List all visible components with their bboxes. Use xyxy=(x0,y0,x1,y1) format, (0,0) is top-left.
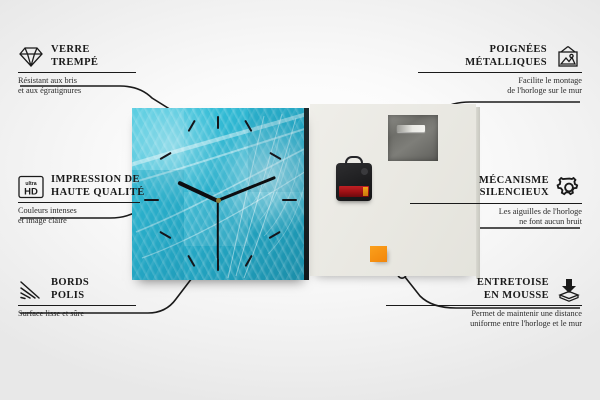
feature-title-line2: SILENCIEUX xyxy=(479,187,549,200)
foam-spacer-icon xyxy=(556,278,582,302)
callout-rule xyxy=(18,305,136,306)
callout-impression: ultra HD IMPRESSION DE HAUTE QUALITÉ Cou… xyxy=(18,174,218,226)
tick-12 xyxy=(217,116,219,129)
infographic-canvas: VERRE TREMPÉ Résistant aux bris et aux é… xyxy=(0,0,600,400)
svg-text:HD: HD xyxy=(24,186,38,197)
feature-title-line2: MÉTALLIQUES xyxy=(465,57,547,70)
callout-verre-trempe: VERRE TREMPÉ Résistant aux bris et aux é… xyxy=(18,44,208,96)
feature-desc-line1: Les aiguilles de l'horloge xyxy=(352,207,582,217)
feature-title-line1: BORDS xyxy=(51,277,89,290)
ultra-hd-icon: ultra HD xyxy=(18,175,44,199)
callout-rule xyxy=(410,203,582,204)
feature-desc-line1: Facilite le montage xyxy=(362,76,582,86)
feature-title-line1: VERRE xyxy=(51,44,98,57)
metal-hanger-plate xyxy=(388,115,438,161)
callout-entretoise: ENTRETOISE EN MOUSSE Permet de maintenir… xyxy=(332,277,582,329)
callout-mecanisme: MÉCANISME SILENCIEUX Les aiguilles de l'… xyxy=(352,174,582,227)
callout-rule xyxy=(386,305,582,306)
foam-spacer xyxy=(370,246,387,262)
feature-title-line1: ENTRETOISE xyxy=(477,277,549,290)
callout-rule xyxy=(18,202,140,203)
callout-poignees: POIGNÉES MÉTALLIQUES Facilite le montage… xyxy=(362,44,582,96)
feature-title-line2: POLIS xyxy=(51,290,89,303)
wall-frame-icon xyxy=(554,45,582,69)
feature-desc-line1: Permet de maintenir une distance xyxy=(332,309,582,319)
feature-desc-line1: Résistant aux bris xyxy=(18,76,208,86)
feature-desc-line2: et aux égratignures xyxy=(18,86,208,96)
feature-title-line1: MÉCANISME xyxy=(479,175,549,188)
tick-6 xyxy=(217,258,219,271)
feature-title-line1: POIGNÉES xyxy=(465,44,547,57)
feature-title-line2: TREMPÉ xyxy=(51,57,98,70)
tick-3 xyxy=(282,199,297,201)
callout-rule xyxy=(18,72,136,73)
feature-desc-line2: de l'horloge sur le mur xyxy=(362,86,582,96)
feature-desc-line1: Surface lisse et sûre xyxy=(18,309,208,319)
gear-icon xyxy=(556,174,582,200)
feature-desc-line1: Couleurs intenses xyxy=(18,206,218,216)
feature-desc-line2: et image claire xyxy=(18,216,218,226)
diamond-icon xyxy=(18,46,44,68)
feature-desc-line2: uniforme entre l'horloge et le mur xyxy=(332,319,582,329)
feature-title-line2: HAUTE QUALITÉ xyxy=(51,187,145,200)
feature-title-line2: EN MOUSSE xyxy=(477,290,549,303)
hands-center-cap xyxy=(216,198,221,203)
hanger-slot xyxy=(397,125,425,132)
callout-bords-polis: BORDS POLIS Surface lisse et sûre xyxy=(18,277,208,319)
feature-title-line1: IMPRESSION DE xyxy=(51,174,145,187)
polished-edges-icon xyxy=(18,279,44,301)
movement-hanger-loop xyxy=(345,156,363,165)
callout-rule xyxy=(418,72,582,73)
feature-desc-line2: ne font aucun bruit xyxy=(352,217,582,227)
